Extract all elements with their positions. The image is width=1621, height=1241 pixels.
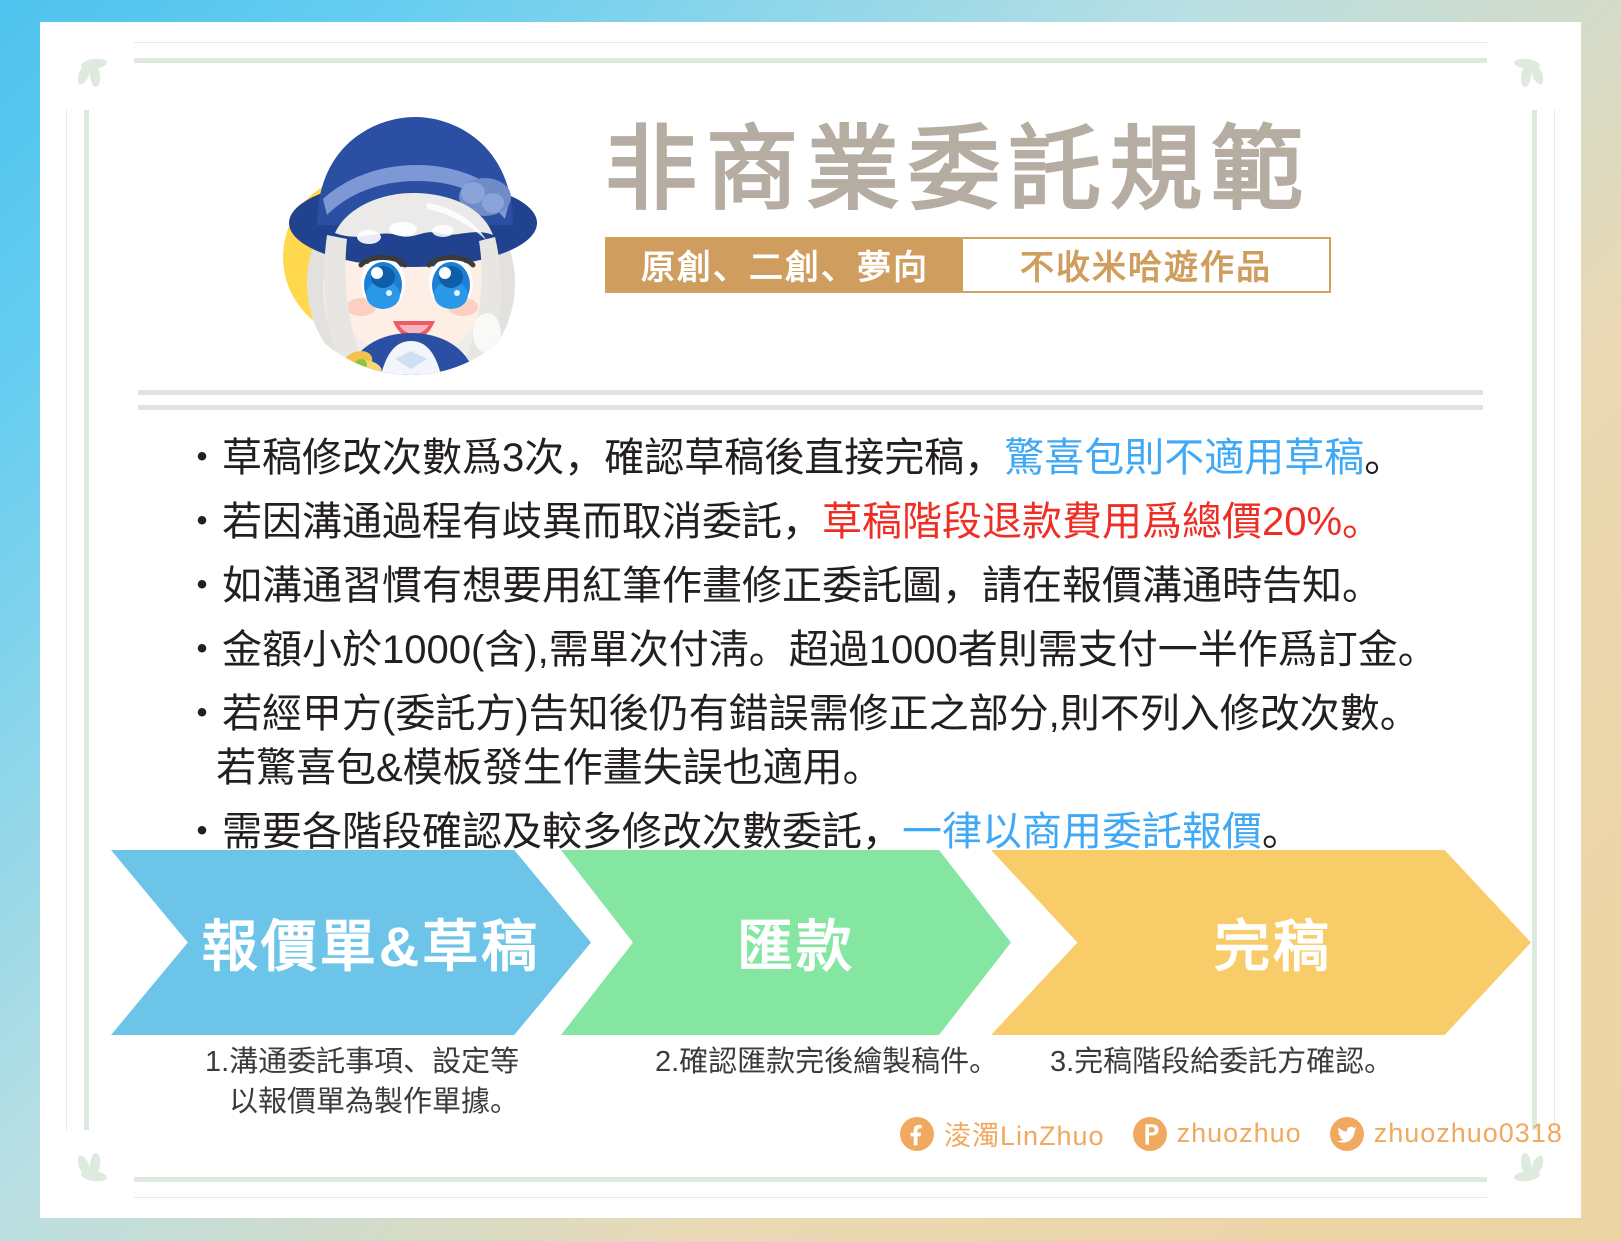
rule-item: ・如溝通習慣有想要用紅筆作畫修正委託圖，請在報價溝通時告知。 (182, 560, 1482, 612)
rule-item: ・若因溝通過程有歧異而取消委託，草稿階段退款費用爲總價20%。 (182, 496, 1482, 548)
rule-text: 若驚喜包&模板發生作畫失誤也適用。 (216, 742, 1482, 794)
flow-caption-3: 3.完稿階段給委託方確認。 (1050, 1042, 1393, 1082)
rule-bullet-icon: ・ (182, 496, 222, 548)
rule-text: 若因溝通過程有歧異而取消委託，草稿階段退款費用爲總價20%。 (222, 496, 1482, 548)
flow-caption-1: 1.溝通委託事項、設定等以報價單為製作單據。 (205, 1042, 519, 1122)
rule-bullet-icon: ・ (182, 688, 222, 740)
avatar-illustration-icon (277, 107, 545, 375)
rule-text-segment: 如溝通習慣有想要用紅筆作畫修正委託圖，請在報價溝通時告知。 (222, 564, 1382, 608)
rule-text-segment: 若因溝通過程有歧異而取消委託， (222, 500, 822, 544)
twitter-icon[interactable] (1330, 1117, 1364, 1151)
social-handle[interactable]: 淩濁LinZhuo (944, 1114, 1105, 1153)
rule-item: ・若經甲方(委託方)告知後仍有錯誤需修正之部分,則不列入修改次數。 (182, 688, 1482, 740)
rule-text-highlight: 驚喜包則不適用草稿 (1004, 436, 1364, 480)
title-block: 非商業委託規範 原創、二創、夢向 不收米哈遊作品 (605, 122, 1515, 293)
social-links: 淩濁LinZhuozhuozhuozhuozhuo0318 (900, 1114, 1520, 1153)
rule-item: ・金額小於1000(含),需單次付淸。超過1000者則需支付一半作爲訂金。 (182, 624, 1482, 676)
rule-text: 草稿修改次數爲3次，確認草稿後直接完稿，驚喜包則不適用草稿。 (222, 432, 1482, 484)
divider-line-bottom (138, 405, 1483, 410)
rule-bullet-icon: ・ (182, 560, 222, 612)
poster-root: 非商業委託規範 原創、二創、夢向 不收米哈遊作品 ・草稿修改次數爲3次，確認草稿… (0, 0, 1621, 1241)
rule-text: 若經甲方(委託方)告知後仍有錯誤需修正之部分,則不列入修改次數。 (222, 688, 1482, 740)
rule-text-highlight: 草稿階段退款費用爲總價20%。 (822, 500, 1382, 544)
rule-text: 如溝通習慣有想要用紅筆作畫修正委託圖，請在報價溝通時告知。 (222, 560, 1482, 612)
facebook-icon[interactable] (900, 1117, 934, 1151)
pixiv-icon[interactable] (1133, 1117, 1167, 1151)
rule-text-segment: 若經甲方(委託方)告知後仍有錯誤需修正之部分,則不列入修改次數。 (222, 692, 1420, 736)
flow-step-label: 報價單&草稿 (202, 902, 540, 983)
avatar (277, 107, 545, 375)
badge-accepted-genres: 原創、二創、夢向 (607, 239, 963, 291)
flow-caption-line: 2.確認匯款完後繪製稿件。 (655, 1042, 998, 1082)
flow-step-2: 匯款 (561, 850, 1011, 1035)
social-handle[interactable]: zhuozhuo0318 (1374, 1118, 1563, 1149)
rule-text: 金額小於1000(含),需單次付淸。超過1000者則需支付一半作爲訂金。 (222, 624, 1482, 676)
poster-content: 非商業委託規範 原創、二創、夢向 不收米哈遊作品 ・草稿修改次數爲3次，確認草稿… (100, 74, 1521, 1166)
rule-text-segment: 金額小於1000(含),需單次付淸。超過1000者則需支付一半作爲訂金。 (222, 628, 1438, 672)
rule-text-segment: 若驚喜包&模板發生作畫失誤也適用。 (216, 746, 883, 790)
divider-line-top (138, 390, 1483, 395)
rule-bullet-icon: ・ (182, 432, 222, 484)
social-link-pixiv[interactable]: zhuozhuo (1133, 1117, 1302, 1151)
flow-step-3: 完稿 (991, 850, 1531, 1035)
rule-item: ・草稿修改次數爲3次，確認草稿後直接完稿，驚喜包則不適用草稿。 (182, 432, 1482, 484)
flow-step-1: 報價單&草稿 (111, 850, 591, 1035)
flow-step-label: 匯款 (737, 902, 855, 983)
badge-excluded-works: 不收米哈遊作品 (963, 239, 1329, 291)
poster-header: 非商業委託規範 原創、二創、夢向 不收米哈遊作品 (100, 74, 1521, 342)
page-title: 非商業委託規範 (605, 122, 1515, 219)
scope-badge-row: 原創、二創、夢向 不收米哈遊作品 (605, 237, 1331, 293)
flow-caption-line: 1.溝通委託事項、設定等 (205, 1042, 519, 1082)
rule-text-segment: 。 (1262, 810, 1302, 854)
rule-item: 若驚喜包&模板發生作畫失誤也適用。 (182, 742, 1482, 794)
rules-list: ・草稿修改次數爲3次，確認草稿後直接完稿，驚喜包則不適用草稿。・若因溝通過程有歧… (182, 432, 1482, 870)
flow-caption-line: 以報價單為製作單據。 (205, 1082, 519, 1122)
social-handle[interactable]: zhuozhuo (1177, 1118, 1302, 1149)
social-link-facebook[interactable]: 淩濁LinZhuo (900, 1114, 1105, 1153)
rule-bullet-icon: ・ (182, 624, 222, 676)
flow-step-label: 完稿 (1214, 902, 1332, 983)
rule-text-highlight: 一律以商用委託報價 (902, 810, 1262, 854)
poster-card: 非商業委託規範 原創、二創、夢向 不收米哈遊作品 ・草稿修改次數爲3次，確認草稿… (40, 22, 1581, 1218)
rule-text-segment: 草稿修改次數爲3次，確認草稿後直接完稿， (222, 436, 1004, 480)
flow-caption-line: 3.完稿階段給委託方確認。 (1050, 1042, 1393, 1082)
section-divider (138, 390, 1483, 410)
process-flow: 報價單&草稿匯款完稿 (106, 850, 1527, 1035)
rule-text-segment: 。 (1364, 436, 1404, 480)
rule-text-segment: 需要各階段確認及較多修改次數委託， (222, 810, 902, 854)
flow-caption-2: 2.確認匯款完後繪製稿件。 (655, 1042, 998, 1082)
social-link-twitter[interactable]: zhuozhuo0318 (1330, 1117, 1563, 1151)
